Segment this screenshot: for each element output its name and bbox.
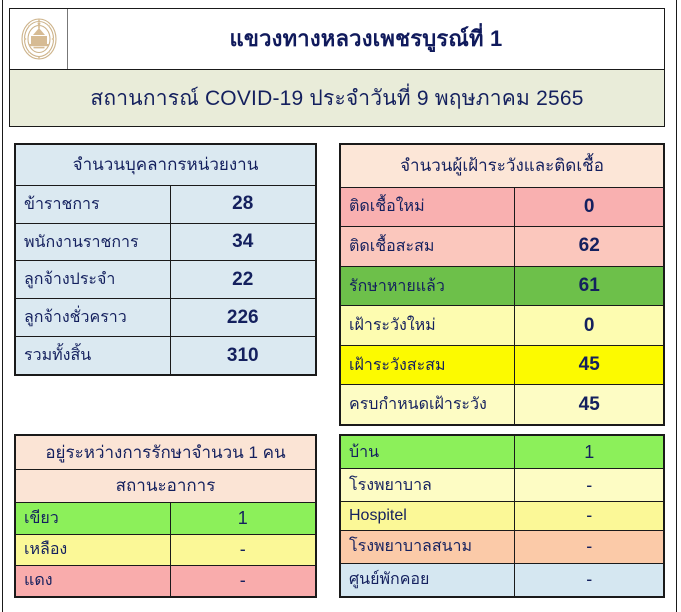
table-row: บ้าน 1 — [341, 436, 664, 469]
table-header-row: จำนวนผู้เฝ้าระวังและติดเชื้อ — [341, 145, 664, 188]
status-row-label: เหลือง — [16, 534, 171, 565]
covid-row-value: 62 — [515, 227, 664, 267]
staff-row-label: พนักงานราชการ — [16, 223, 171, 261]
table-row: ข้าราชการ 28 — [16, 185, 316, 223]
table-row: โรงพยาบาล - — [341, 469, 664, 502]
table-row: Hospitel - — [341, 502, 664, 530]
covid-row-value: 45 — [515, 345, 664, 385]
covid-surveillance-table: จำนวนผู้เฝ้าระวังและติดเชื้อ ติดเชื้อใหม… — [339, 143, 665, 426]
place-row-value: - — [515, 502, 664, 530]
staff-row-label: ลูกจ้างประจำ — [16, 261, 171, 299]
covid-row-value: 0 — [515, 306, 664, 346]
department-of-highways-seal-icon — [17, 15, 61, 63]
place-row-value: 1 — [515, 436, 664, 469]
dashboard-page: แขวงทางหลวงเพชรบูรณ์ที่ 1 สถานการณ์ COVI… — [0, 0, 681, 612]
status-table-title: อยู่ระหว่างการรักษาจำนวน 1 คน — [16, 436, 316, 470]
staff-total-label: รวมทั้งสิ้น — [16, 337, 171, 375]
place-row-value: - — [515, 530, 664, 563]
table-row: ติดเชื้อใหม่ 0 — [341, 187, 664, 227]
covid-row-label: เฝ้าระวังใหม่ — [341, 306, 515, 346]
table-subheader-row: สถานะอาการ — [16, 469, 316, 503]
staff-row-value: 226 — [170, 299, 316, 337]
table-row: แดง - — [16, 565, 316, 596]
table-row: เฝ้าระวังใหม่ 0 — [341, 306, 664, 346]
place-row-value: - — [515, 563, 664, 596]
covid-row-label: รักษาหายแล้ว — [341, 266, 515, 306]
status-row-value: 1 — [170, 503, 316, 534]
table-row: ครบกำหนดเฝ้าระวัง 45 — [341, 385, 664, 425]
staff-count-table: จำนวนบุคลากรหน่วยงาน ข้าราชการ 28 พนักงา… — [14, 143, 317, 376]
table-row: รักษาหายแล้ว 61 — [341, 266, 664, 306]
status-row-label: แดง — [16, 565, 171, 596]
staff-row-value: 28 — [170, 185, 316, 223]
logo-cell — [10, 9, 68, 69]
table-row: เขียว 1 — [16, 503, 316, 534]
table-row: ลูกจ้างชั่วคราว 226 — [16, 299, 316, 337]
table-header-row: จำนวนบุคลากรหน่วยงาน — [16, 145, 316, 186]
staff-row-label: ลูกจ้างชั่วคราว — [16, 299, 171, 337]
table-header-row: อยู่ระหว่างการรักษาจำนวน 1 คน — [16, 436, 316, 470]
covid-table-title: จำนวนผู้เฝ้าระวังและติดเชื้อ — [341, 145, 664, 188]
table-row: ศูนย์พักคอย - — [341, 563, 664, 596]
status-row-value: - — [170, 565, 316, 596]
status-row-value: - — [170, 534, 316, 565]
treatment-location-table: บ้าน 1 โรงพยาบาล - Hospitel - โรงพยาบาลส… — [339, 434, 665, 598]
covid-row-label: เฝ้าระวังสะสม — [341, 345, 515, 385]
report-subtitle: สถานการณ์ COVID-19 ประจำวันที่ 9 พฤษภาคม… — [9, 70, 665, 127]
covid-row-value: 0 — [515, 187, 664, 227]
staff-row-value: 22 — [170, 261, 316, 299]
place-row-value: - — [515, 469, 664, 502]
covid-row-value: 61 — [515, 266, 664, 306]
status-row-label: เขียว — [16, 503, 171, 534]
place-row-label: Hospitel — [341, 502, 515, 530]
covid-row-label: ครบกำหนดเฝ้าระวัง — [341, 385, 515, 425]
table-row: พนักงานราชการ 34 — [16, 223, 316, 261]
staff-row-value: 34 — [170, 223, 316, 261]
treatment-status-table: อยู่ระหว่างการรักษาจำนวน 1 คน สถานะอาการ… — [14, 434, 317, 598]
place-row-label: โรงพยาบาลสนาม — [341, 530, 515, 563]
table-row: ติดเชื้อสะสม 62 — [341, 227, 664, 267]
place-row-label: ศูนย์พักคอย — [341, 563, 515, 596]
organization-title: แขวงทางหลวงเพชรบูรณ์ที่ 1 — [68, 9, 664, 69]
staff-total-value: 310 — [170, 337, 316, 375]
header-banner: แขวงทางหลวงเพชรบูรณ์ที่ 1 — [9, 8, 665, 70]
table-row-total: รวมทั้งสิ้น 310 — [16, 337, 316, 375]
table-row: โรงพยาบาลสนาม - — [341, 530, 664, 563]
covid-row-label: ติดเชื้อใหม่ — [341, 187, 515, 227]
place-row-label: โรงพยาบาล — [341, 469, 515, 502]
covid-row-label: ติดเชื้อสะสม — [341, 227, 515, 267]
staff-table-title: จำนวนบุคลากรหน่วยงาน — [16, 145, 316, 186]
covid-row-value: 45 — [515, 385, 664, 425]
status-table-subtitle: สถานะอาการ — [16, 469, 316, 503]
table-row: เหลือง - — [16, 534, 316, 565]
place-row-label: บ้าน — [341, 436, 515, 469]
table-row: ลูกจ้างประจำ 22 — [16, 261, 316, 299]
staff-row-label: ข้าราชการ — [16, 185, 171, 223]
table-row: เฝ้าระวังสะสม 45 — [341, 345, 664, 385]
